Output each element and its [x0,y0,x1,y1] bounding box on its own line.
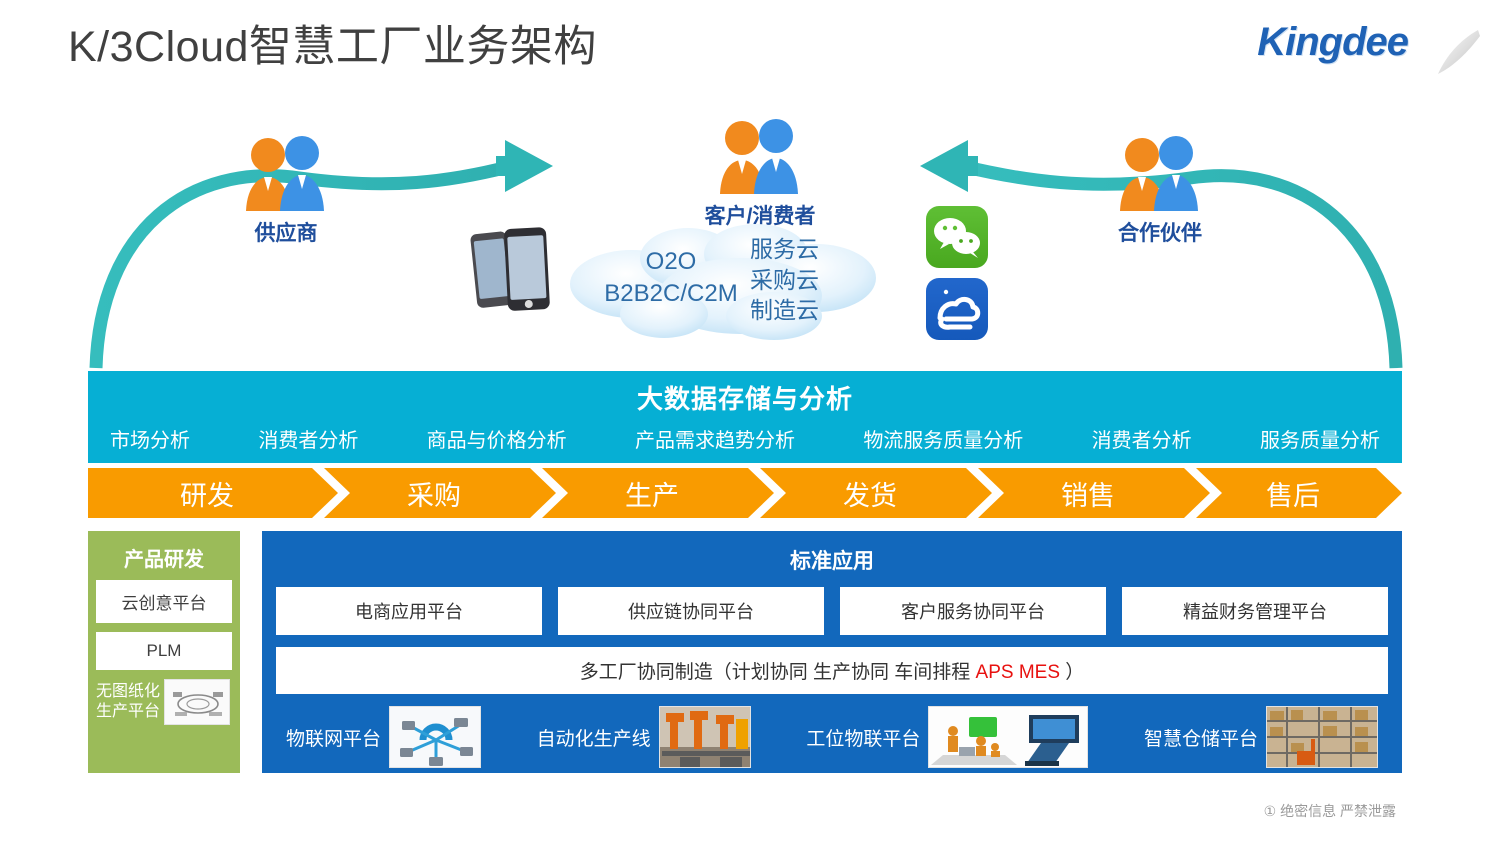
rd-paperless-label-line2: 生产平台 [96,702,160,722]
platform-automation-line-label: 自动化生产线 [537,724,651,751]
process-step-6[interactable]: 售后 [1196,468,1402,518]
bigdata-bar: 大数据存储与分析 市场分析 消费者分析 商品与价格分析 产品需求趋势分析 物流服… [88,371,1402,463]
people-icon [240,133,332,213]
iot-hub-thumbnail [389,706,481,768]
wechat-icon[interactable] [926,206,988,268]
cloud-right-line-3: 制造云 [750,295,850,326]
bigdata-item: 商品与价格分析 [427,424,567,453]
app-customer-service-platform[interactable]: 客户服务协同平台 [840,587,1106,635]
process-step-1[interactable]: 研发 [88,468,338,518]
rd-paperless-label-line1: 无图纸化 [96,682,160,702]
rd-panel-title: 产品研发 [96,539,232,580]
multi-factory-highlight: APS MES [976,662,1060,683]
cloud-right-text: 服务云 采购云 制造云 [750,234,850,326]
app-lean-finance-platform[interactable]: 精益财务管理平台 [1122,587,1388,635]
platform-iot-label: 物联网平台 [286,724,381,751]
cloud-left-line-2: B2B2C/C2M [586,278,756,310]
cloud-left-line-1: O2O [586,246,756,278]
rd-panel: 产品研发 云创意平台 PLM 无图纸化 生产平台 [88,531,240,773]
cloud-right-line-2: 采购云 [750,265,850,296]
slide-canvas: K/3Cloud智慧工厂业务架构 Kingdee [0,0,1500,843]
actor-partner: 合作伙伴 [1114,133,1206,247]
platform-automation-line[interactable]: 自动化生产线 [537,706,751,768]
process-step-4[interactable]: 发货 [760,468,992,518]
multi-factory-prefix: 多工厂协同制造（计划协同 生产协同 车间排程 [580,662,976,683]
bigdata-item: 市场分析 [110,424,190,453]
rd-box-cloud-creative[interactable]: 云创意平台 [96,580,232,623]
process-step-label: 销售 [1061,474,1115,513]
confidential-footer: ① 绝密信息 严禁泄露 [1264,801,1396,821]
multi-factory-suffix: ） [1060,662,1084,683]
actor-supplier: 供应商 [240,133,332,247]
warehouse-thumbnail [1266,706,1378,768]
process-step-label: 生产 [625,474,679,513]
app-supplychain-platform[interactable]: 供应链协同平台 [558,587,824,635]
rd-box-plm[interactable]: PLM [96,632,232,670]
actor-customer: 客户/消费者 [690,116,830,230]
app-ecommerce-platform[interactable]: 电商应用平台 [276,587,542,635]
standard-apps-panel: 标准应用 电商应用平台 供应链协同平台 客户服务协同平台 精益财务管理平台 多工… [262,531,1402,773]
process-step-label: 采购 [407,474,461,513]
bigdata-items: 市场分析 消费者分析 商品与价格分析 产品需求趋势分析 物流服务质量分析 消费者… [88,416,1402,453]
cloud-shape: O2O B2B2C/C2M 服务云 采购云 制造云 [560,222,900,342]
rd-paperless-row[interactable]: 无图纸化 生产平台 [96,679,232,725]
platform-iot[interactable]: 物联网平台 [286,706,481,768]
process-step-3[interactable]: 生产 [542,468,774,518]
standard-apps-row-3: 物联网平台 [276,706,1388,768]
standard-apps-row-1: 电商应用平台 供应链协同平台 客户服务协同平台 精益财务管理平台 [276,587,1388,635]
actor-label: 供应商 [240,217,332,247]
bigdata-item: 物流服务质量分析 [863,424,1023,453]
smartphones-image [470,222,556,314]
bigdata-item: 消费者分析 [258,424,358,453]
bigdata-item: 产品需求趋势分析 [635,424,795,453]
actor-label: 合作伙伴 [1114,217,1206,247]
standard-apps-title: 标准应用 [276,537,1388,587]
workstation-thumbnail [928,706,1088,768]
bigdata-item: 消费者分析 [1092,424,1192,453]
rd-paperless-label: 无图纸化 生产平台 [96,682,160,721]
platform-smart-warehouse-label: 智慧仓储平台 [1144,724,1258,751]
people-icon [1114,133,1206,213]
bigdata-item: 服务质量分析 [1260,424,1380,453]
kingdee-cloud-icon[interactable] [926,278,988,340]
robot-line-thumbnail [659,706,751,768]
people-icon [714,116,806,196]
process-chevron-bar: 研发 采购 生产 发货 销售 售后 [88,468,1402,518]
bigdata-title: 大数据存储与分析 [88,371,1402,416]
process-step-label: 发货 [843,474,897,513]
process-step-5[interactable]: 销售 [978,468,1210,518]
multi-factory-manufacturing-bar[interactable]: 多工厂协同制造（计划协同 生产协同 车间排程 APS MES ） [276,647,1388,694]
blueprint-thumbnail [164,679,230,725]
process-step-2[interactable]: 采购 [324,468,556,518]
platform-smart-warehouse[interactable]: 智慧仓储平台 [1144,706,1378,768]
cloud-right-line-1: 服务云 [750,234,850,265]
process-step-label: 售后 [1266,474,1320,513]
platform-workstation-iot[interactable]: 工位物联平台 [806,706,1088,768]
cloud-left-text: O2O B2B2C/C2M [586,246,756,309]
platform-workstation-iot-label: 工位物联平台 [806,724,920,751]
process-step-label: 研发 [180,474,234,513]
